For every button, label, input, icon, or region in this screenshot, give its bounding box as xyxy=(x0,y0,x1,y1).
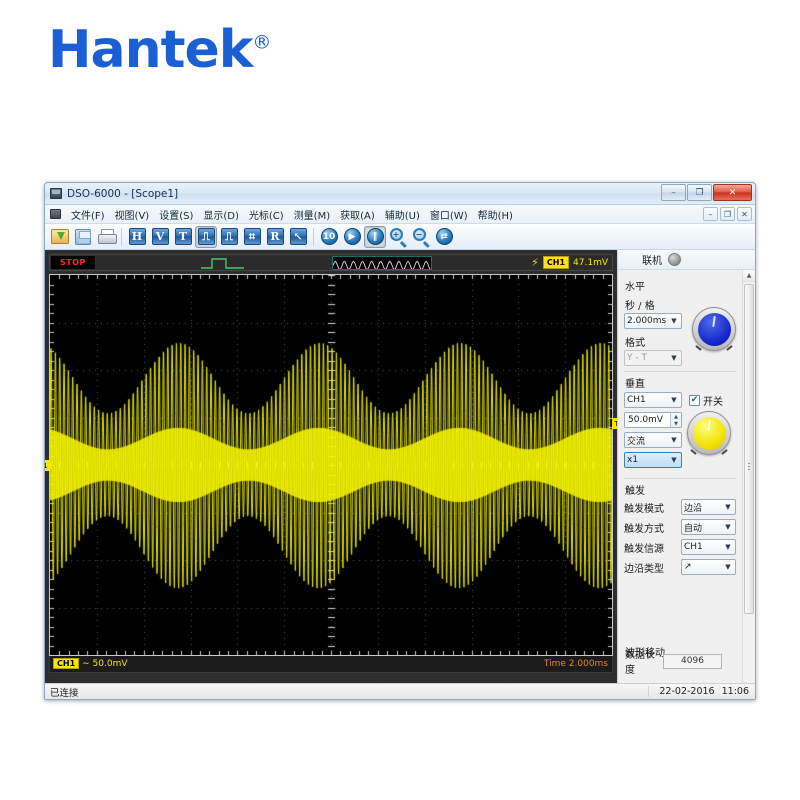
toolbar: HVT⎍⎍⌗R↖10▶‖+−⇄ xyxy=(45,224,755,250)
format-value: Y - T xyxy=(627,353,647,363)
format-label: 格式 xyxy=(625,334,687,349)
chevron-down-icon: ▼ xyxy=(723,560,733,574)
zoom-out-icon-glyph: − xyxy=(413,228,430,245)
sec-per-div-select[interactable]: 2.000ms ▼ xyxy=(624,313,682,329)
mdi-minimize-button[interactable]: – xyxy=(703,207,718,221)
record-icon-glyph: R xyxy=(267,228,284,245)
hantek-logo: Hantek® xyxy=(48,24,270,76)
trigger-source-row: 触发信源 CH1 ▼ xyxy=(624,539,736,555)
print-icon[interactable] xyxy=(95,226,117,248)
zoom-in-icon[interactable]: + xyxy=(387,226,409,248)
toolbar-separator xyxy=(313,228,314,246)
menu-bar: 文件(F) 视图(V) 设置(S) 显示(D) 光标(C) 测量(M) 获取(A… xyxy=(45,205,755,224)
stepper-buttons[interactable]: ▲ ▼ xyxy=(670,413,681,427)
vertical-icon[interactable]: V xyxy=(149,226,171,248)
measure-icon-glyph: ⌗ xyxy=(244,228,261,245)
waveform-alt-icon[interactable]: ⎍ xyxy=(218,226,240,248)
datetime-area: 22-02-2016 11:06 xyxy=(648,686,755,697)
checkbox-checkmark: ✔ xyxy=(689,395,700,406)
sec-per-div-label: 秒 / 格 xyxy=(625,297,687,312)
scrollbar-thumb[interactable] xyxy=(744,284,754,614)
run-state-badge[interactable]: STOP xyxy=(51,256,95,269)
autoset-icon[interactable]: ⇄ xyxy=(433,226,455,248)
menu-window[interactable]: 窗口(W) xyxy=(425,206,473,223)
coupling-select[interactable]: 交流 ▼ xyxy=(624,432,682,448)
maximize-button[interactable]: ❐ xyxy=(687,184,712,201)
chevron-down-icon: ▼ xyxy=(669,314,679,328)
format-select[interactable]: Y - T ▼ xyxy=(624,350,682,366)
digital-icon-glyph: 10 xyxy=(321,228,338,245)
sec-per-div-value: 2.000ms xyxy=(627,316,666,326)
menu-settings[interactable]: 设置(S) xyxy=(154,206,198,223)
readout-trigger-level: 47.1mV xyxy=(573,258,608,268)
application-window: DSO-6000 - [Scope1] – ❐ ✕ 文件(F) 视图(V) 设置… xyxy=(44,182,756,700)
trigger-mode-row: 触发模式 边沿 ▼ xyxy=(624,499,736,515)
vertical-section-title: 垂直 xyxy=(625,375,736,390)
control-panel-body: 水平 秒 / 格 2.000ms ▼ 格式 Y - T ▼ xyxy=(618,270,742,683)
edge-type-row: 边沿类型 ↗ ▼ xyxy=(624,559,736,575)
overview-trace xyxy=(333,259,432,270)
waveform-icon[interactable]: ⎍ xyxy=(195,226,217,248)
trigger-sweep-value: 自动 xyxy=(684,521,702,534)
scope-display-area: STOP ⚡ CH1 47.1mV 1 T xyxy=(45,250,617,683)
timebase-readout: Time 2.000ms xyxy=(544,659,608,669)
trigger-level-icon xyxy=(200,256,246,271)
trigger-source-value: CH1 xyxy=(684,542,703,552)
stepper-up-icon[interactable]: ▲ xyxy=(671,413,681,420)
record-icon[interactable]: R xyxy=(264,226,286,248)
edge-type-label: 边沿类型 xyxy=(624,560,664,575)
chevron-down-icon: ▼ xyxy=(669,453,679,467)
data-length-row: 数据长度 4096 xyxy=(625,646,722,676)
autoset-icon-glyph: ⇄ xyxy=(436,228,453,245)
channel-scale-readout: CH1 ∼ 50.0mV xyxy=(53,658,128,669)
menu-file[interactable]: 文件(F) xyxy=(66,206,110,223)
menu-display[interactable]: 显示(D) xyxy=(198,206,244,223)
panel-scrollbar[interactable]: ▲ xyxy=(742,270,755,683)
graticule[interactable]: 1 T xyxy=(49,274,613,656)
waveform-overview[interactable] xyxy=(332,256,432,270)
waveform-alt-icon-glyph: ⎍ xyxy=(221,228,238,245)
chevron-down-icon: ▼ xyxy=(723,520,733,534)
window-title: DSO-6000 - [Scope1] xyxy=(67,188,178,200)
scope-bottom-readouts: CH1 ∼ 50.0mV Time 2.000ms xyxy=(49,656,613,673)
online-label: 联机 xyxy=(642,252,662,267)
chevron-down-icon: ▼ xyxy=(669,433,679,447)
mdi-restore-button[interactable]: ❐ xyxy=(720,207,735,221)
menu-cursor[interactable]: 光标(C) xyxy=(244,206,289,223)
probe-value: x1 xyxy=(627,455,638,465)
print-icon-glyph xyxy=(98,229,115,244)
waveform-icon-glyph: ⎍ xyxy=(198,228,215,245)
volts-per-div-stepper[interactable]: 50.0mV ▲ ▼ xyxy=(624,412,682,428)
vertical-icon-glyph: V xyxy=(152,228,169,245)
menu-help[interactable]: 帮助(H) xyxy=(473,206,518,223)
data-length-value: 4096 xyxy=(663,654,722,669)
scope-status-strip: STOP ⚡ CH1 47.1mV xyxy=(49,254,613,271)
trigger-mode-label: 触发模式 xyxy=(624,500,664,515)
readout-channel-tag: CH1 xyxy=(543,256,569,269)
knob-face xyxy=(693,417,726,450)
ch1-volts-per-div: ∼ 50.0mV xyxy=(82,659,127,669)
menu-utility[interactable]: 辅助(U) xyxy=(380,206,425,223)
registered-mark: ® xyxy=(252,32,270,54)
waveform-canvas[interactable] xyxy=(50,275,612,655)
menu-measure[interactable]: 测量(M) xyxy=(289,206,335,223)
status-date: 22-02-2016 xyxy=(659,686,714,697)
status-bar: 已连接 22-02-2016 11:06 xyxy=(45,683,755,699)
chevron-down-icon: ▼ xyxy=(669,393,679,407)
mdi-close-button[interactable]: ✕ xyxy=(737,207,752,221)
pause-icon-glyph: ‖ xyxy=(367,228,384,245)
vertical-channel-value: CH1 xyxy=(627,395,646,405)
volts-per-div-value: 50.0mV xyxy=(628,415,663,425)
horizontal-icon-glyph: H xyxy=(129,228,146,245)
pause-icon[interactable]: ‖ xyxy=(364,226,386,248)
channel-ground-marker[interactable]: 1 xyxy=(44,460,50,471)
save-icon[interactable] xyxy=(72,226,94,248)
probe-attenuation-select[interactable]: x1 ▼ xyxy=(624,452,682,468)
scrollbar-grip xyxy=(748,463,750,470)
ch1-tag: CH1 xyxy=(53,658,79,669)
trigger-icon-glyph: T xyxy=(175,228,192,245)
minimize-button[interactable]: – xyxy=(661,184,686,201)
knob-face xyxy=(698,313,731,346)
horizontal-position-knob[interactable] xyxy=(692,307,736,351)
digital-icon[interactable]: 10 xyxy=(318,226,340,248)
cursor-icon-glyph: ↖ xyxy=(290,228,307,245)
stepper-down-icon[interactable]: ▼ xyxy=(671,420,681,427)
save-icon-glyph xyxy=(75,229,91,245)
menu-acquire[interactable]: 获取(A) xyxy=(335,206,380,223)
toolbar-separator xyxy=(121,228,122,246)
open-icon-glyph xyxy=(51,229,69,244)
divider xyxy=(624,371,736,372)
divider xyxy=(624,478,736,479)
logo-text: Hantek xyxy=(48,20,252,80)
chevron-down-icon: ▼ xyxy=(723,540,733,554)
channel-enable-checkbox[interactable]: ✔ 开关 xyxy=(689,393,736,408)
channel-enable-label: 开关 xyxy=(703,393,723,408)
control-panel: 联机 水平 秒 / 格 2.000ms ▼ 格式 Y - T xyxy=(617,250,755,683)
window-controls: – ❐ ✕ xyxy=(661,184,752,201)
run-icon[interactable]: ▶ xyxy=(341,226,363,248)
application-icon xyxy=(50,188,62,199)
chevron-down-icon: ▼ xyxy=(669,351,679,365)
title-bar: DSO-6000 - [Scope1] – ❐ ✕ xyxy=(45,183,755,205)
trigger-mode-value: 边沿 xyxy=(684,501,702,514)
mdi-window-controls: – ❐ ✕ xyxy=(703,207,752,221)
trigger-source-icon: ⚡ xyxy=(531,257,539,268)
zoom-out-icon[interactable]: − xyxy=(410,226,432,248)
scope-workspace: STOP ⚡ CH1 47.1mV 1 T xyxy=(45,250,755,683)
trigger-mode-select[interactable]: 边沿 ▼ xyxy=(681,499,736,515)
trigger-source-label: 触发信源 xyxy=(624,540,664,555)
document-icon xyxy=(50,209,61,219)
horizontal-section-title: 水平 xyxy=(625,278,736,293)
edge-type-select[interactable]: ↗ ▼ xyxy=(681,559,736,575)
status-time: 11:06 xyxy=(722,686,749,697)
online-indicator-led[interactable] xyxy=(668,253,681,266)
online-status-row: 联机 xyxy=(618,250,755,270)
menu-view[interactable]: 视图(V) xyxy=(110,206,155,223)
run-icon-glyph: ▶ xyxy=(344,228,361,245)
measure-icon[interactable]: ⌗ xyxy=(241,226,263,248)
close-button[interactable]: ✕ xyxy=(713,184,752,201)
vertical-channel-select[interactable]: CH1 ▼ xyxy=(624,392,682,408)
trigger-sweep-label: 触发方式 xyxy=(624,520,664,535)
trigger-section-title: 触发 xyxy=(625,482,736,497)
chevron-down-icon: ▼ xyxy=(723,500,733,514)
coupling-value: 交流 xyxy=(627,434,645,447)
trigger-source-select[interactable]: CH1 ▼ xyxy=(681,539,736,555)
cursor-icon[interactable]: ↖ xyxy=(287,226,309,248)
connection-status: 已连接 xyxy=(45,685,79,699)
vertical-position-knob[interactable] xyxy=(687,411,731,455)
trigger-icon[interactable]: T xyxy=(172,226,194,248)
horizontal-icon[interactable]: H xyxy=(126,226,148,248)
trigger-sweep-select[interactable]: 自动 ▼ xyxy=(681,519,736,535)
channel-readout: ⚡ CH1 47.1mV xyxy=(531,256,608,269)
zoom-in-icon-glyph: + xyxy=(390,228,407,245)
trigger-sweep-row: 触发方式 自动 ▼ xyxy=(624,519,736,535)
data-length-label: 数据长度 xyxy=(625,646,663,676)
scroll-up-icon[interactable]: ▲ xyxy=(743,270,755,282)
edge-type-value: ↗ xyxy=(684,562,692,572)
open-icon[interactable] xyxy=(49,226,71,248)
